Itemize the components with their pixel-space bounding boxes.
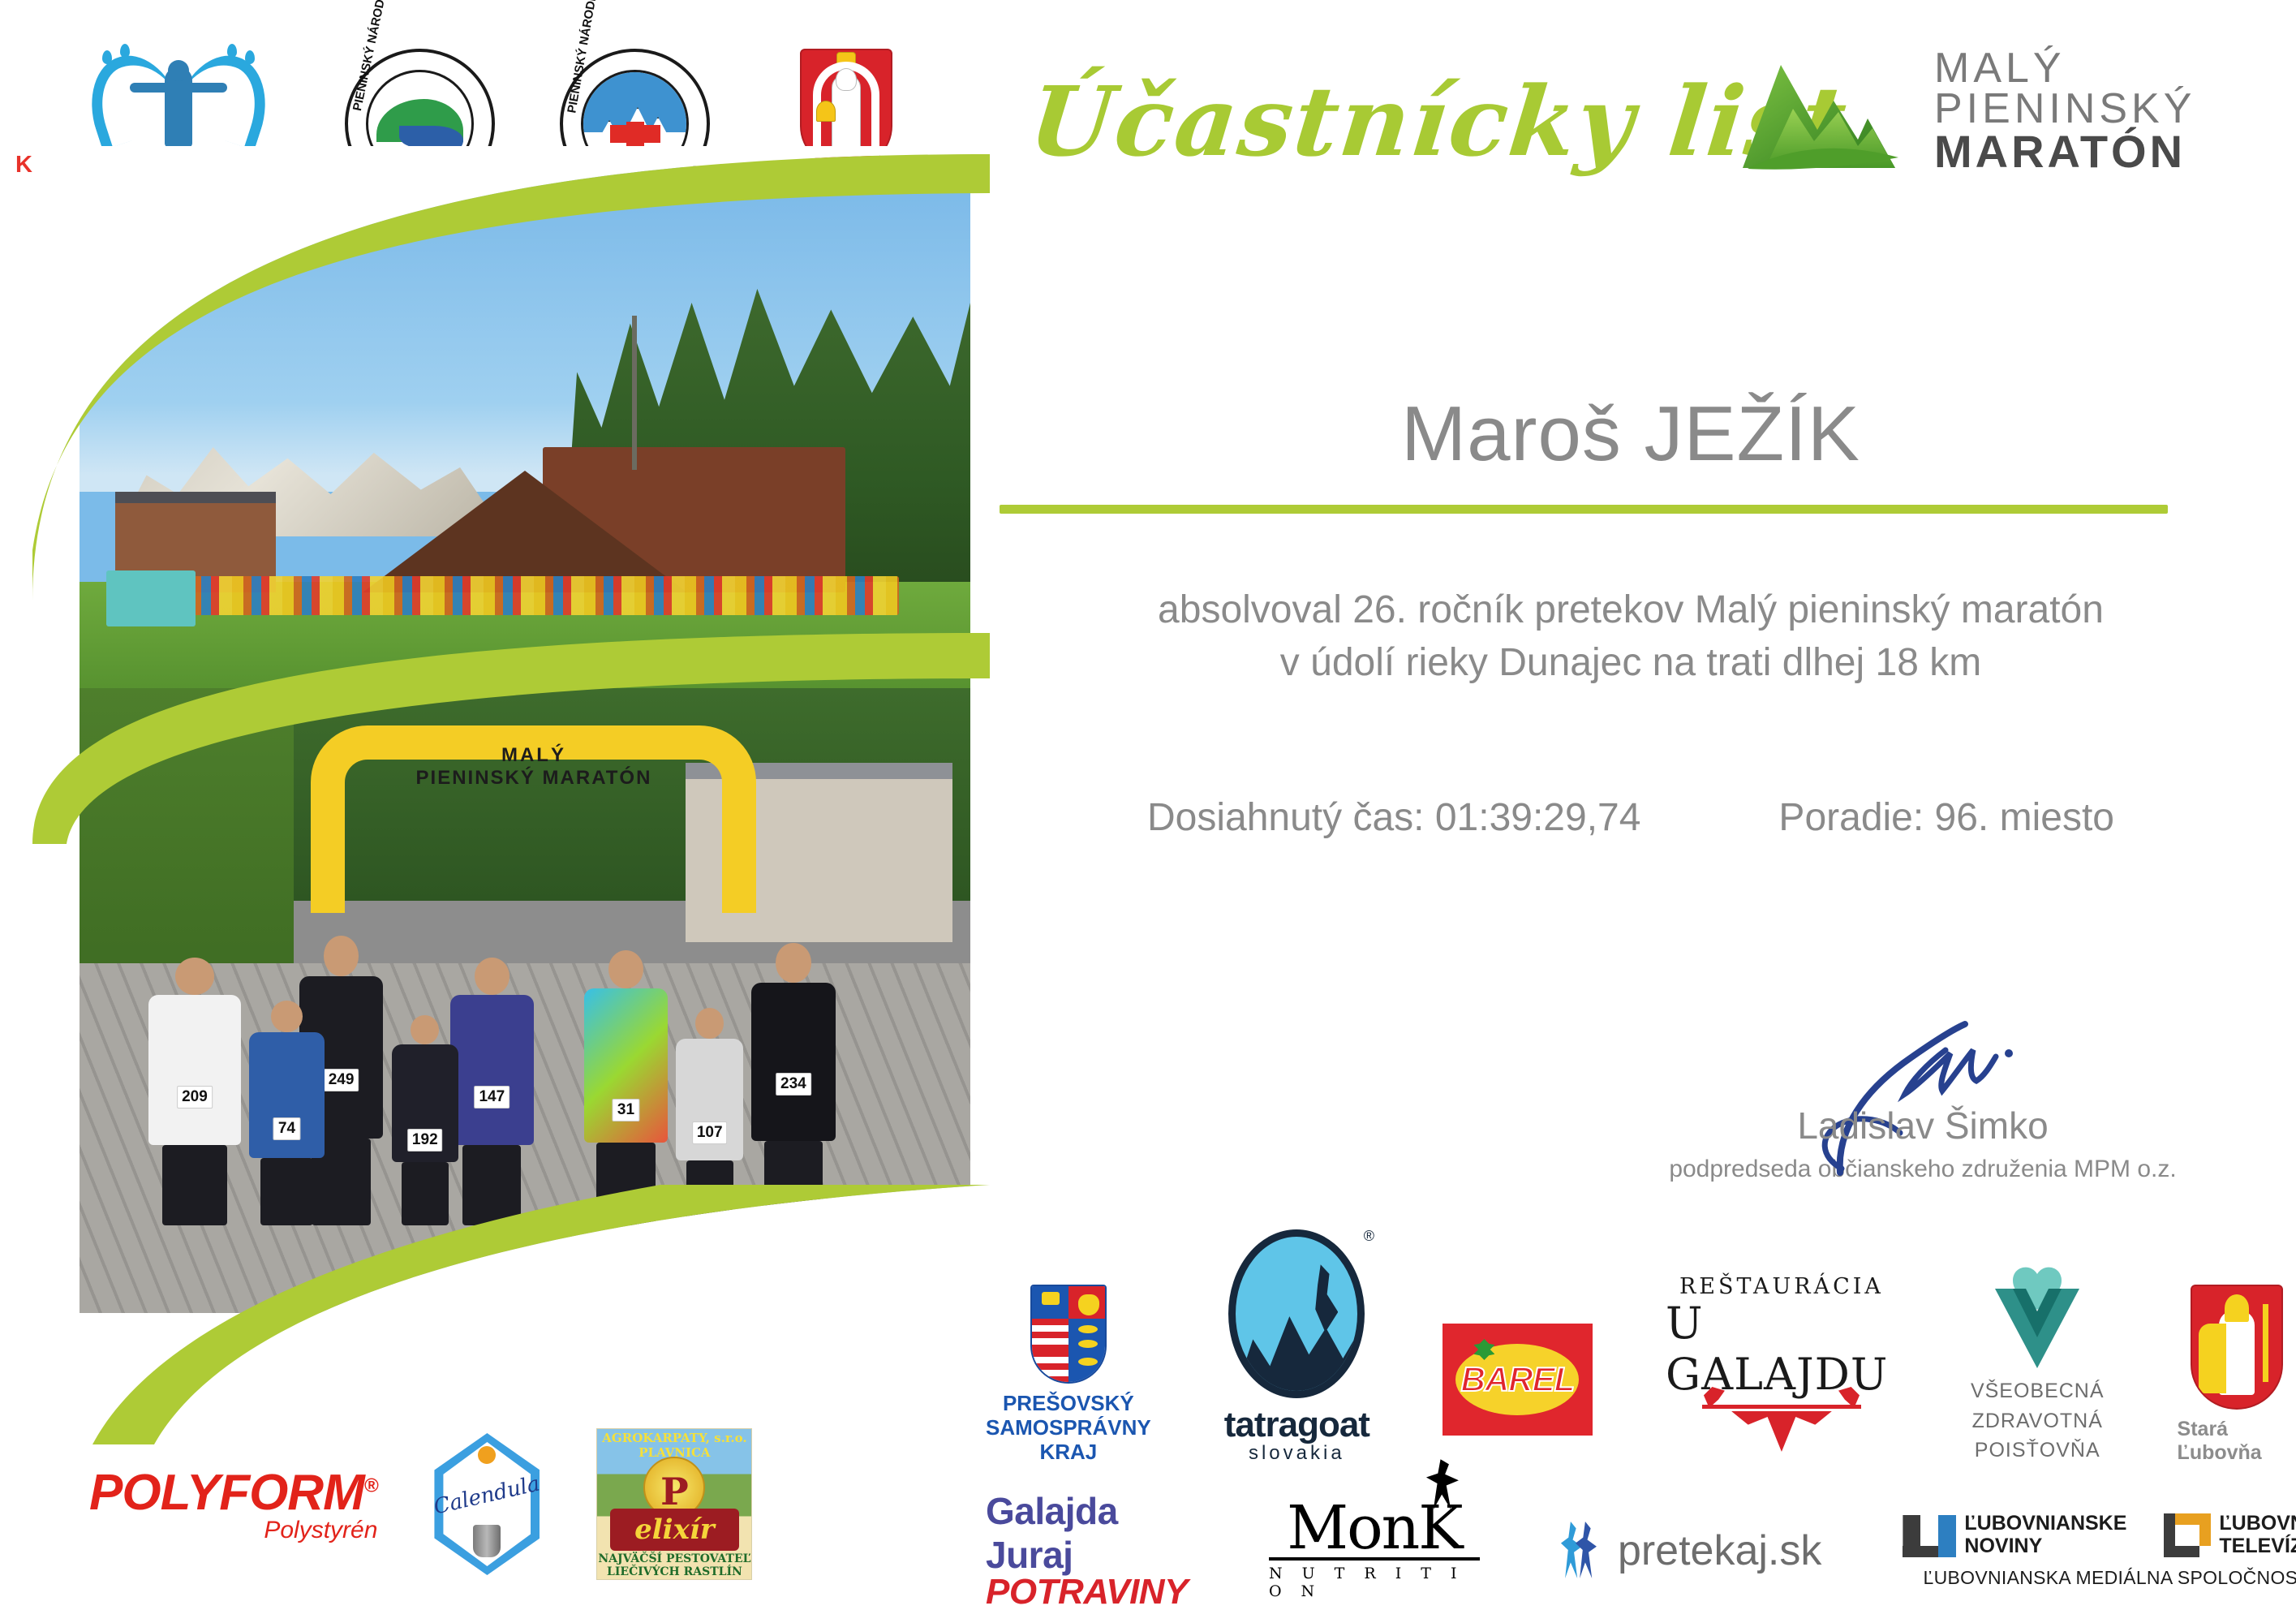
goat-mountain-icon (1228, 1229, 1365, 1398)
runner: 192 (392, 1015, 459, 1225)
certificate-page: KÚPELE ČERVENÝ KLÁŠTOR Smerdžonka PIENIN… (0, 0, 2296, 1623)
bib-number: 74 (273, 1117, 300, 1140)
televizia-line-2: TELEVÍZIA (2219, 1535, 2296, 1558)
participant-name: Maroš JEŽÍK (998, 390, 2264, 479)
bib-number: 249 (324, 1069, 359, 1091)
participation-line-2: v údolí rieky Dunajec na trati dlhej 18 … (998, 637, 2264, 690)
noviny-line-2: NOVINY (1964, 1535, 2126, 1558)
vzp-line-1: VŠEOBECNÁ (1971, 1376, 2105, 1406)
ln-monogram-icon (1903, 1513, 1956, 1557)
participation-text: absolvoval 26. ročník pretekov Malý pien… (998, 584, 2264, 690)
flower-icon (478, 1446, 496, 1464)
hs-ring-top: PIENINSKÝ NÁRODNÝ PARK (565, 0, 608, 114)
spa-angel-icon (81, 49, 276, 150)
bib-number: 31 (613, 1099, 639, 1121)
participation-line-1: absolvoval 26. ročník pretekov Malý pien… (998, 584, 2264, 637)
runner: 74 (249, 1001, 325, 1225)
psk-line-3: KRAJ (986, 1440, 1151, 1465)
page-title: Účastnícky list (1025, 65, 1853, 178)
folk-ornament-icon (1702, 1405, 1861, 1453)
results-row: Dosiahnutý čas: 01:39:29,74 Poradie: 96.… (998, 795, 2264, 840)
photo-collage: MALÝ PIENINSKÝ MARATÓN 209 249 74 (32, 146, 990, 1428)
galajda-line-1: Galajda Juraj (986, 1489, 1188, 1577)
logo-stara-lubovna: Stará Ľubovňa (2178, 1285, 2296, 1465)
title-divider (1000, 505, 2168, 514)
logo-barel: BAREL (1443, 1324, 1593, 1436)
mountain-icon (1736, 50, 1907, 172)
logo-monk-nutrition: MonK N U T R I T I O N (1269, 1501, 1480, 1600)
monk-name: MonK (1287, 1501, 1461, 1556)
achieved-time: Dosiahnutý čas: 01:39:29,74 (1147, 795, 1640, 840)
arch-line-1: MALÝ (364, 744, 703, 767)
signer-name: Ladislav Šimko (1663, 1104, 2182, 1147)
stara-lubovna-coat-of-arms-icon (2191, 1285, 2283, 1410)
placement: Poradie: 96. miesto (1778, 795, 2114, 840)
polyform-reg: ® (364, 1474, 378, 1496)
lt-monogram-icon (2164, 1513, 2211, 1557)
tatragoat-sub: slovakia (1249, 1442, 1345, 1465)
noviny-line-1: ĽUBOVNIANSKE (1964, 1513, 2126, 1535)
mpm-line3: MARATÓN (1934, 130, 2195, 174)
tatragoat-reg: ® (1364, 1228, 1374, 1245)
runner: 107 (676, 1008, 743, 1225)
agrokarpaty-bottom-2: LIEČIVÝCH RASTLÍN (597, 1565, 751, 1578)
logo-agrokarpaty-elixir: AGROKARPATY, s.r.o. PLAVNICA P elixír NA… (596, 1428, 752, 1580)
mortar-icon (473, 1525, 501, 1557)
runners-icon (1561, 1522, 1608, 1580)
tatragoat-name: tatragoat (1224, 1405, 1369, 1445)
psk-coat-of-arms-icon (1030, 1285, 1107, 1384)
vzp-heart-chevron-icon (1980, 1264, 2094, 1370)
televizia-line-1: ĽUBOVNIANSKA (2219, 1513, 2296, 1535)
arch-text: MALÝ PIENINSKÝ MARATÓN (364, 744, 703, 789)
vzp-line-3: POISŤOVŇA (1971, 1436, 2105, 1465)
sponsors-row-1: PREŠOVSKÝ SAMOSPRÁVNY KRAJ ® tatragoat s… (986, 1229, 2296, 1465)
mpm-line1: MALÝ (1934, 49, 2195, 89)
vzp-line-2: ZDRAVOTNÁ (1971, 1406, 2105, 1436)
logo-lubovnianska-televizia: ĽUBOVNIANSKA TELEVÍZIA (2164, 1513, 2296, 1557)
logo-lubovnianska-medialna-spolocnost: ĽUBOVNIANSKE NOVINY ĽUBOVNIANSKA TELEVÍZ… (1903, 1513, 2296, 1589)
mpm-wordmark: MALÝ PIENINSKÝ MARATÓN (1934, 49, 2195, 174)
logo-calendula: Calendula (434, 1433, 540, 1575)
bib-number: 192 (407, 1129, 443, 1152)
runner: 147 (450, 958, 534, 1225)
logo-galajda-juraj: Galajda Juraj POTRAVINY (986, 1489, 1188, 1612)
bib-number: 147 (474, 1086, 510, 1109)
pretekaj-name: pretekaj.sk (1618, 1526, 1821, 1575)
arch-line-2: PIENINSKÝ MARATÓN (364, 767, 703, 790)
psk-line-2: SAMOSPRÁVNY (986, 1416, 1151, 1440)
runner: 31 (584, 950, 668, 1225)
race-start-photo: MALÝ PIENINSKÝ MARATÓN 209 249 74 (80, 688, 970, 1313)
stara-lubovna-label: Stará Ľubovňa (2178, 1418, 2296, 1465)
runner: 209 (148, 958, 241, 1225)
polyform-name: POLYFORM (89, 1465, 364, 1521)
logo-vseobecna-zdravotna-poistovna: VŠEOBECNÁ ZDRAVOTNÁ POISŤOVŇA (1971, 1264, 2105, 1465)
venue-photo (80, 167, 970, 727)
ugalajdu-line-2: U GALAJDU (1666, 1298, 1898, 1400)
logo-tatragoat: ® tatragoat slovakia (1224, 1229, 1369, 1465)
logo-lubovnianske-noviny: ĽUBOVNIANSKE NOVINY (1903, 1513, 2126, 1557)
signature-block: Ladislav Šimko podpredseda občianskeho z… (1663, 1014, 2182, 1183)
runners-group: 209 249 74 147 31 (115, 863, 952, 1226)
bib-number: 107 (692, 1121, 728, 1144)
logo-polyform: POLYFORM® Polystyrén (89, 1464, 377, 1544)
agrokarpaty-bottom-1: NAJVÄČŠÍ PESTOVATEĽ (597, 1552, 751, 1565)
barel-name: BAREL (1461, 1360, 1575, 1399)
media-company-footer: ĽUBOVNIANSKA MEDIÁLNA SPOLOČNOSŤ, s.r.o. (1924, 1567, 2296, 1589)
bib-number: 234 (776, 1073, 811, 1096)
agrokarpaty-mono: P (660, 1470, 689, 1513)
clover-icon (1473, 1339, 1494, 1360)
mpm-line2: PIENINSKÝ (1934, 89, 2195, 130)
psk-line-1: PREŠOVSKÝ (986, 1392, 1151, 1416)
monk-sub: N U T R I T I O N (1269, 1565, 1480, 1600)
ugalajdu-line-1: REŠTAURÁCIA (1679, 1274, 1884, 1299)
mpm-logo: MALÝ PIENINSKÝ MARATÓN (1736, 49, 2195, 174)
runner: 234 (751, 943, 835, 1225)
sponsors-row-2: Galajda Juraj POTRAVINY MonK N U T R I T… (986, 1489, 2296, 1612)
bib-number: 209 (177, 1086, 213, 1109)
sponsors-left: POLYFORM® Polystyrén Calendula AGROKARPA… (89, 1428, 752, 1580)
elixir-brand: elixír (634, 1513, 715, 1546)
logo-pretekaj-sk: pretekaj.sk (1561, 1522, 1821, 1580)
logo-presovsky-samospravny-kraj: PREŠOVSKÝ SAMOSPRÁVNY KRAJ (986, 1285, 1151, 1465)
galajda-line-2: POTRAVINY (986, 1572, 1188, 1612)
logo-restauracia-u-galajdu: REŠTAURÁCIA U GALAJDU (1666, 1274, 1898, 1453)
agrokarpaty-top: AGROKARPATY, s.r.o. PLAVNICA (597, 1431, 751, 1460)
